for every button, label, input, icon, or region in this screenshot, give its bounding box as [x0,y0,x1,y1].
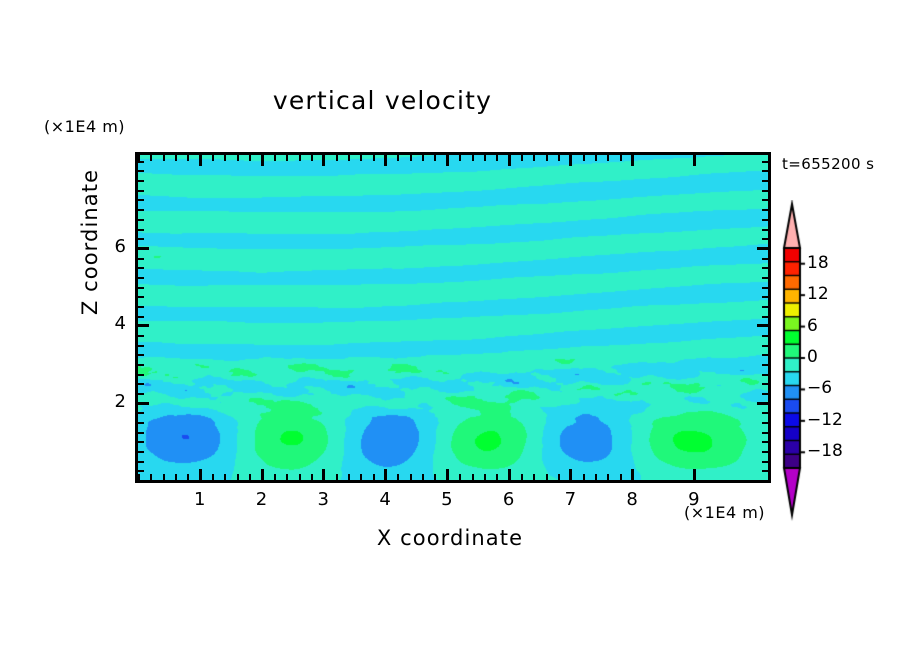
y-tick-label: 2 [86,391,126,412]
x-tick-minor-top [496,155,498,161]
x-tick-major [693,469,696,480]
x-tick-minor [397,474,399,480]
y-tick-minor-right [762,345,768,347]
x-tick-minor-top [212,155,214,161]
y-tick-minor [138,219,144,221]
time-annotation: t=655200 s [782,155,874,173]
y-tick-minor [138,470,144,472]
x-tick-major [384,469,387,480]
y-tick-minor [138,335,144,337]
x-tick-minor-top [274,155,276,161]
y-tick-minor [138,229,144,231]
x-tick-minor [496,474,498,480]
y-tick-minor-right [762,277,768,279]
x-tick-major [199,469,202,480]
y-tick-minor [138,432,144,434]
axis-tick-layer: 123456789246 [0,0,904,654]
x-tick-minor-top [397,155,399,161]
y-tick-minor-right [762,199,768,201]
y-tick-minor [138,296,144,298]
x-tick-minor-top [249,155,251,161]
x-tick-minor-top [336,155,338,161]
x-tick-major-top [693,155,696,166]
y-tick-minor [138,412,144,414]
y-tick-major-right [757,324,768,327]
x-tick-minor-top [163,155,165,161]
y-tick-minor [138,316,144,318]
x-tick-minor [558,474,560,480]
y-tick-minor-right [762,238,768,240]
x-tick-minor-top [558,155,560,161]
x-tick-minor [237,474,239,480]
y-tick-minor-right [762,364,768,366]
x-tick-minor-top [607,155,609,161]
x-tick-minor [163,474,165,480]
y-tick-minor-right [762,374,768,376]
y-tick-minor [138,170,144,172]
y-tick-minor-right [762,335,768,337]
x-tick-minor-top [620,155,622,161]
y-tick-minor-right [762,209,768,211]
y-tick-minor-right [762,287,768,289]
x-tick-minor-top [187,155,189,161]
colorbar-tick-label: −12 [807,410,843,430]
x-tick-minor-top [583,155,585,161]
x-tick-major-top [322,155,325,166]
x-tick-major [631,469,634,480]
y-tick-minor [138,393,144,395]
x-tick-minor-top [224,155,226,161]
x-tick-minor-top [360,155,362,161]
x-tick-minor [286,474,288,480]
x-tick-minor [472,474,474,480]
y-tick-minor [138,209,144,211]
x-tick-label: 6 [489,489,529,510]
y-tick-minor [138,277,144,279]
y-tick-minor-right [762,190,768,192]
x-tick-minor-top [237,155,239,161]
y-tick-minor-right [762,393,768,395]
x-tick-label: 8 [612,489,652,510]
x-tick-label: 3 [303,489,343,510]
y-tick-minor [138,199,144,201]
y-tick-minor [138,451,144,453]
x-tick-minor [422,474,424,480]
x-tick-label: 4 [365,489,405,510]
x-tick-minor-top [533,155,535,161]
x-tick-minor [484,474,486,480]
x-tick-minor-top [434,155,436,161]
x-tick-major [322,469,325,480]
x-tick-minor [224,474,226,480]
y-tick-minor-right [762,180,768,182]
y-tick-minor-right [762,229,768,231]
x-tick-minor-top [459,155,461,161]
x-tick-minor-top [286,155,288,161]
x-tick-major-top [508,155,511,166]
x-tick-minor-top [373,155,375,161]
x-tick-label: 5 [427,489,467,510]
x-tick-minor [187,474,189,480]
x-tick-minor [620,474,622,480]
colorbar-tick-label: 12 [807,284,829,304]
y-tick-major-right [757,247,768,250]
y-tick-minor [138,354,144,356]
x-tick-minor-top [546,155,548,161]
x-tick-minor-top [299,155,301,161]
x-tick-minor [274,474,276,480]
y-tick-minor-right [762,354,768,356]
x-tick-minor [175,474,177,480]
y-tick-minor [138,238,144,240]
y-tick-minor-right [762,461,768,463]
y-tick-minor [138,345,144,347]
y-tick-minor [138,180,144,182]
x-tick-minor [299,474,301,480]
x-tick-label: 7 [550,489,590,510]
x-tick-major [569,469,572,480]
colorbar-tick-label: 18 [807,253,829,273]
y-tick-minor-right [762,161,768,163]
colorbar: 181260−6−12−18 [775,200,895,525]
colorbar-tick-label: −18 [807,441,843,461]
x-tick-major [446,469,449,480]
y-tick-minor [138,383,144,385]
x-tick-minor [373,474,375,480]
x-tick-minor [459,474,461,480]
x-tick-minor [360,474,362,480]
colorbar-tick-label: 6 [807,316,818,336]
x-tick-minor [249,474,251,480]
x-tick-minor [595,474,597,480]
y-tick-minor [138,422,144,424]
x-tick-major-top [384,155,387,166]
y-tick-minor-right [762,219,768,221]
x-tick-minor [607,474,609,480]
y-tick-minor [138,461,144,463]
x-tick-major-top [631,155,634,166]
x-tick-minor [521,474,523,480]
x-tick-minor-top [311,155,313,161]
x-tick-major [261,469,264,480]
y-tick-minor-right [762,441,768,443]
x-tick-major-top [199,155,202,166]
x-tick-minor-top [175,155,177,161]
x-tick-minor [311,474,313,480]
x-tick-minor-top [150,155,152,161]
x-tick-minor [533,474,535,480]
x-tick-minor [150,474,152,480]
y-tick-minor-right [762,258,768,260]
x-tick-major-top [446,155,449,166]
x-tick-minor [583,474,585,480]
y-tick-minor-right [762,296,768,298]
y-tick-minor-right [762,383,768,385]
y-tick-minor [138,258,144,260]
y-tick-minor [138,306,144,308]
x-tick-minor-top [472,155,474,161]
y-tick-major-right [757,402,768,405]
y-tick-minor-right [762,306,768,308]
x-tick-label: 9 [674,489,714,510]
y-tick-minor-right [762,422,768,424]
x-tick-minor [348,474,350,480]
y-tick-major [138,402,149,405]
x-tick-minor [138,474,140,480]
y-tick-minor [138,267,144,269]
x-tick-label: 1 [180,489,220,510]
y-tick-label: 6 [86,236,126,257]
figure-root: vertical velocity (×1E4 m) (×1E4 m) X co… [0,0,904,654]
y-tick-minor-right [762,170,768,172]
y-tick-major [138,324,149,327]
x-tick-label: 2 [242,489,282,510]
x-tick-minor-top [484,155,486,161]
y-tick-minor [138,190,144,192]
x-tick-minor [546,474,548,480]
y-tick-minor [138,161,144,163]
y-tick-minor-right [762,451,768,453]
x-tick-major-top [569,155,572,166]
x-tick-minor [212,474,214,480]
x-tick-minor [336,474,338,480]
x-tick-minor-top [410,155,412,161]
y-tick-minor-right [762,412,768,414]
y-tick-minor [138,287,144,289]
y-tick-label: 4 [86,313,126,334]
x-tick-major-top [261,155,264,166]
x-tick-minor [434,474,436,480]
y-tick-minor-right [762,267,768,269]
y-tick-minor-right [762,470,768,472]
x-tick-major [508,469,511,480]
y-tick-minor [138,364,144,366]
x-tick-minor [410,474,412,480]
x-tick-minor-top [348,155,350,161]
x-tick-minor-top [422,155,424,161]
x-tick-minor-top [521,155,523,161]
y-tick-minor-right [762,316,768,318]
y-tick-minor [138,441,144,443]
x-tick-minor-top [595,155,597,161]
y-tick-major [138,247,149,250]
y-tick-minor [138,374,144,376]
colorbar-tick-label: 0 [807,347,818,367]
colorbar-tick-label: −6 [807,378,832,398]
y-tick-minor-right [762,432,768,434]
